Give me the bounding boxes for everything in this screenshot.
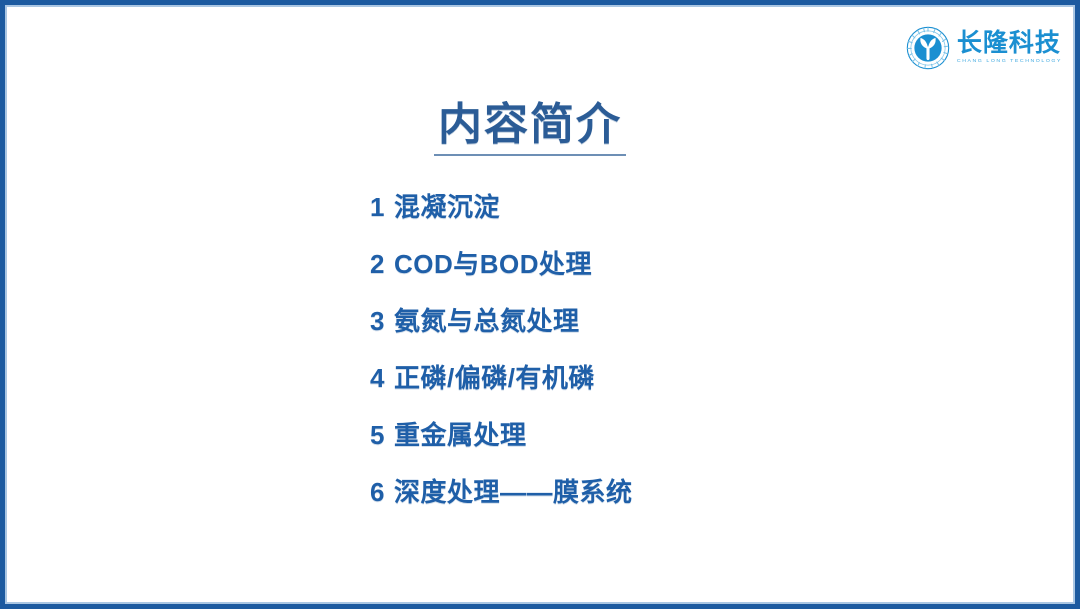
logo-name-cn: 长隆科技 [957,31,1062,56]
changlong-emblem-icon [906,26,950,70]
list-item: 4 正磷/偏磷/有机磷 [370,364,632,421]
page-title-container: 内容简介 [0,101,1060,156]
list-item: 5 重金属处理 [370,421,632,478]
list-item: 1 混凝沉淀 [370,193,632,250]
list-item: 2 COD与BOD处理 [370,250,632,307]
list-item: 6 深度处理——膜系统 [370,478,632,535]
list-item-label: 深度处理——膜系统 [394,478,633,507]
list-item-label: 正磷/偏磷/有机磷 [394,364,595,393]
company-logo: 长隆科技 CHANG LONG TECHNOLOGY [906,26,1062,70]
list-item: 3 氨氮与总氮处理 [370,307,632,364]
logo-name-en: CHANG LONG TECHNOLOGY [957,59,1062,64]
list-item-label: 重金属处理 [394,421,527,450]
list-item-label: 氨氮与总氮处理 [394,307,580,336]
logo-text: 长隆科技 CHANG LONG TECHNOLOGY [957,31,1062,64]
contents-list: 1 混凝沉淀 2 COD与BOD处理 3 氨氮与总氮处理 4 正磷/偏磷/有机磷… [370,193,632,535]
page-title: 内容简介 [434,101,626,156]
list-item-label: 混凝沉淀 [394,193,500,222]
list-item-number: 1 [370,193,385,222]
list-item-number: 4 [370,364,385,393]
presentation-slide: 长隆科技 CHANG LONG TECHNOLOGY 内容简介 1 混凝沉淀 2… [0,0,1080,609]
list-item-number: 6 [370,478,385,507]
list-item-number: 2 [370,250,385,279]
list-item-number: 5 [370,421,385,450]
list-item-number: 3 [370,307,385,336]
list-item-label: COD与BOD处理 [394,250,592,279]
